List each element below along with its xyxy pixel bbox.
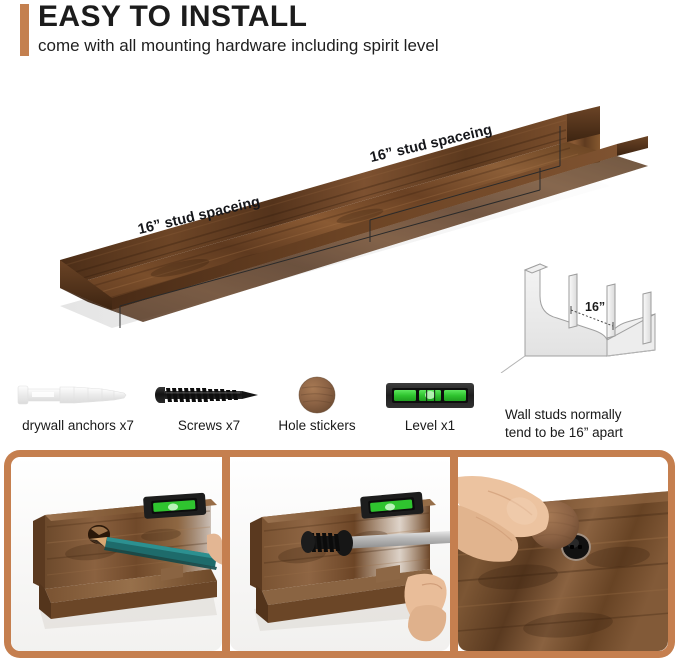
panel-image-cover-screws xyxy=(458,457,668,651)
hardware-item-level: Level x1 xyxy=(374,374,486,442)
stud-spacing-dimension: 16” xyxy=(585,300,605,314)
wall-stud-graphic xyxy=(495,248,670,373)
hardware-label: Hole stickers xyxy=(262,418,372,433)
wall-stud-caption-line2: tend to be 16” apart xyxy=(505,424,673,442)
hardware-item-screws: Screws x7 xyxy=(150,374,268,442)
drywall-anchor-icon xyxy=(8,374,148,416)
panel-image-mark-holes xyxy=(11,457,222,651)
hardware-label: drywall anchors x7 xyxy=(8,418,148,433)
infographic-root: EASY TO INSTALL come with all mounting h… xyxy=(0,0,679,658)
panel-step-cover-screws xyxy=(454,450,675,658)
page-title: EASY TO INSTALL xyxy=(38,0,307,34)
hardware-item-drywall-anchors: drywall anchors x7 xyxy=(8,374,148,442)
accent-bar xyxy=(20,4,29,56)
panel-step-mark-holes xyxy=(4,450,226,658)
step-photo-panels xyxy=(0,450,679,658)
wall-stud-caption: Wall studs normally tend to be 16” apart xyxy=(505,406,673,442)
header: EASY TO INSTALL come with all mounting h… xyxy=(0,0,679,68)
screw-icon xyxy=(150,374,268,416)
hole-sticker-icon xyxy=(262,374,372,416)
hardware-label: Level x1 xyxy=(374,418,486,433)
hardware-label: Screws x7 xyxy=(150,418,268,433)
panel-image-drive-screws xyxy=(230,457,450,651)
panel-step-drive-screws xyxy=(226,450,454,658)
hardware-item-hole-stickers: Hole stickers xyxy=(262,374,372,442)
page-subtitle: come with all mounting hardware includin… xyxy=(38,35,439,56)
wall-stud-diagram xyxy=(495,248,670,373)
wall-stud-caption-line1: Wall studs normally xyxy=(505,406,673,424)
spirit-level-icon xyxy=(374,374,486,416)
